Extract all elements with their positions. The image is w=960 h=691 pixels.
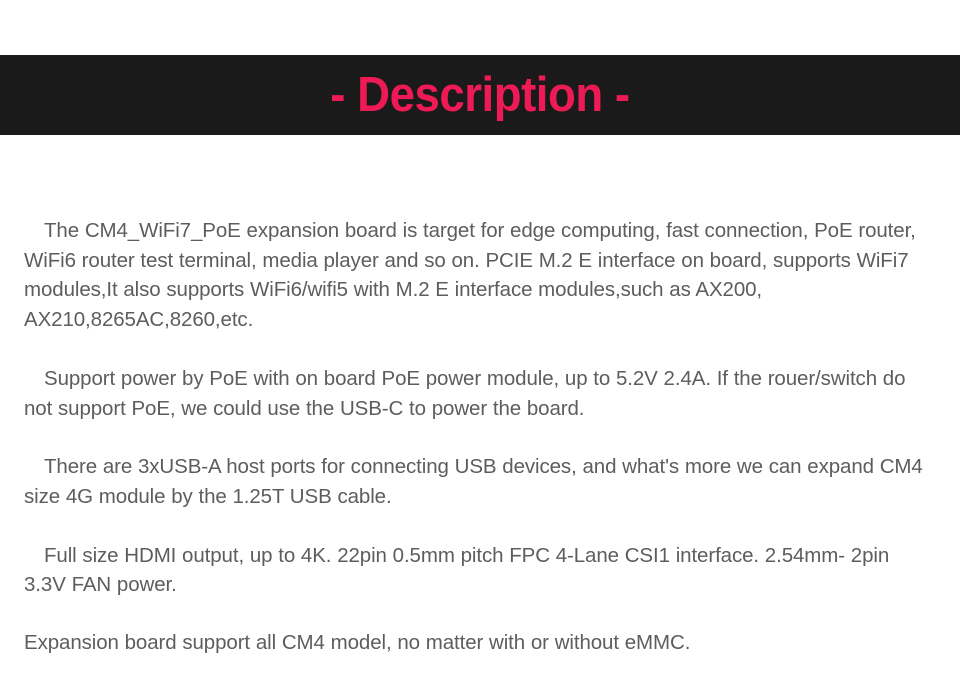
section-header-band: - Description - bbox=[0, 55, 960, 135]
top-spacer bbox=[0, 0, 960, 55]
paragraph-spacer bbox=[24, 335, 936, 364]
description-page: - Description - The CM4_WiFi7_PoE expans… bbox=[0, 0, 960, 691]
paragraph-spacer bbox=[24, 423, 936, 452]
spacer-after-header bbox=[24, 135, 936, 216]
paragraph-spacer bbox=[24, 600, 936, 628]
paragraph-power: Support power by PoE with on board PoE p… bbox=[24, 364, 936, 423]
paragraph-usb: There are 3xUSB-A host ports for connect… bbox=[24, 452, 936, 511]
paragraph-emmc: Expansion board support all CM4 model, n… bbox=[24, 628, 936, 658]
paragraph-spacer bbox=[24, 512, 936, 541]
paragraph-overview: The CM4_WiFi7_PoE expansion board is tar… bbox=[24, 216, 936, 335]
page-title: - Description - bbox=[330, 71, 629, 120]
paragraph-hdmi-csi-fan: Full size HDMI output, up to 4K. 22pin 0… bbox=[24, 541, 936, 600]
description-body: The CM4_WiFi7_PoE expansion board is tar… bbox=[0, 135, 960, 658]
